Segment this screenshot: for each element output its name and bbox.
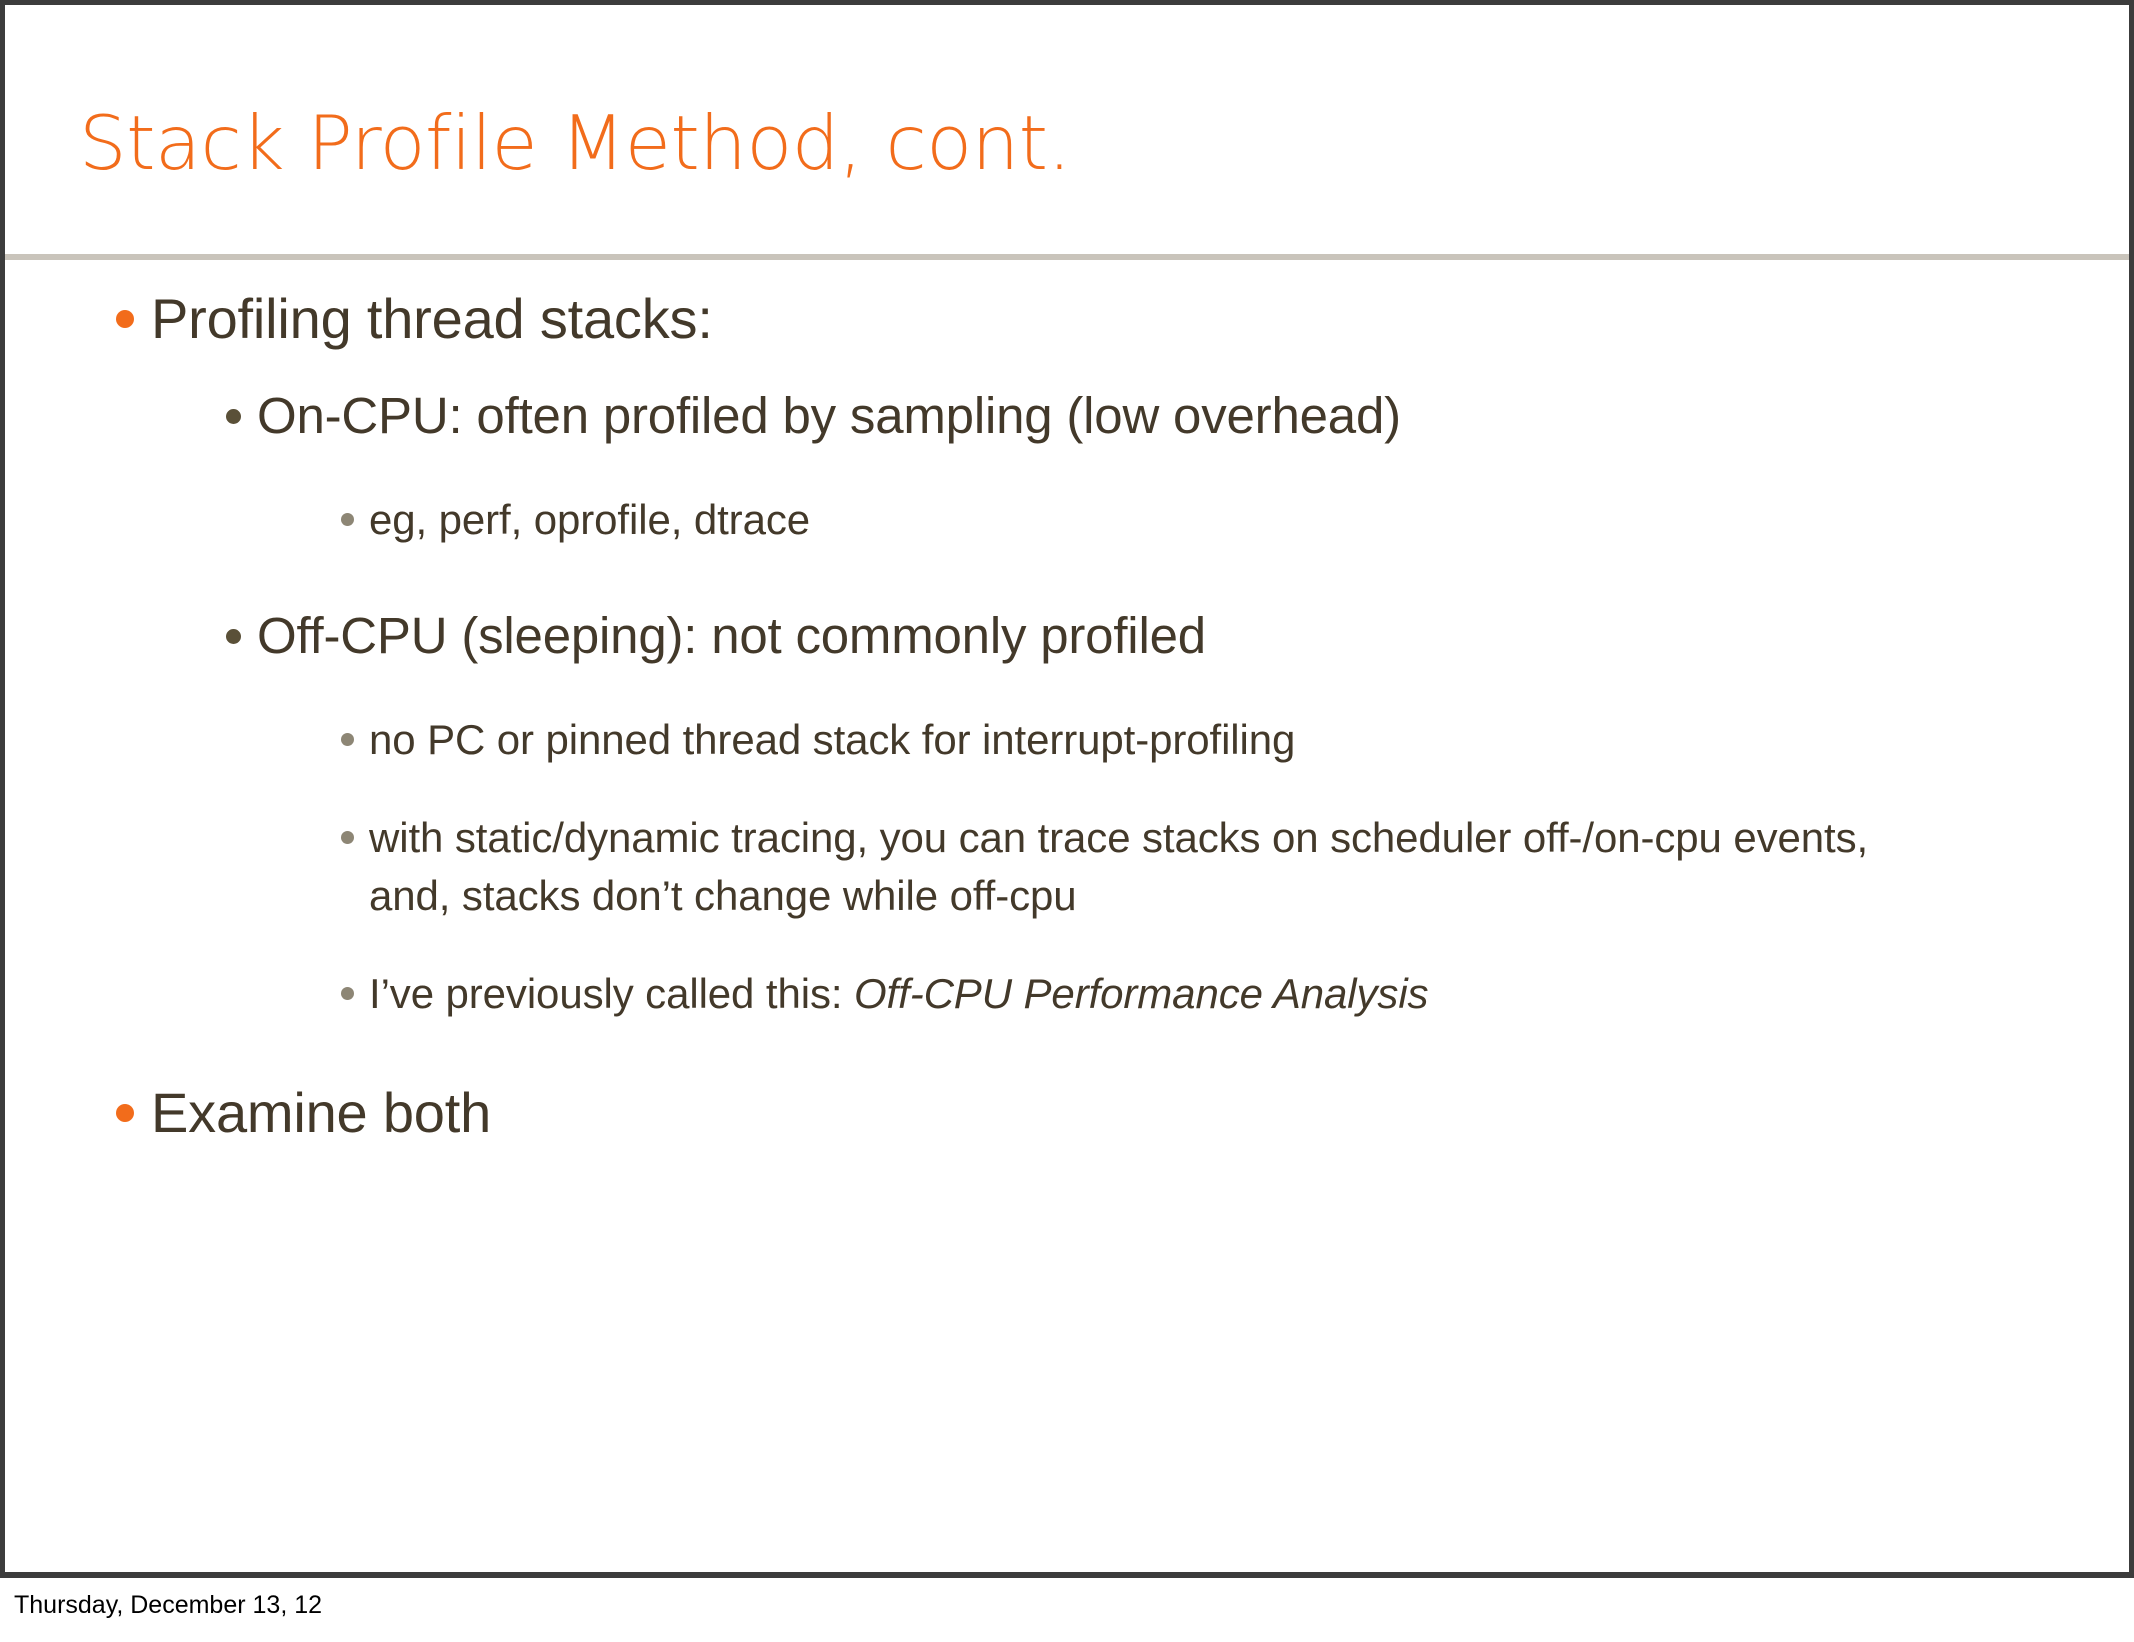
spacer — [5, 473, 2129, 491]
spacer — [5, 1045, 2129, 1075]
bullet-dot-icon — [325, 809, 369, 844]
bullet-level1-profiling-thread-stacks: Profiling thread stacks: — [5, 281, 2129, 357]
bullet-text: with static/dynamic tracing, you can tra… — [369, 809, 1929, 925]
bullet-level3-no-pc-pinned-thread-stack: no PC or pinned thread stack for interru… — [5, 711, 2129, 769]
bullet-text-emphasis: Off-CPU Performance Analysis — [854, 970, 1428, 1017]
bullet-text: no PC or pinned thread stack for interru… — [369, 711, 1929, 769]
bullet-level2-off-cpu-sleeping: Off-CPU (sleeping): not commonly profile… — [5, 601, 2129, 671]
bullet-level3-eg-perf-oprofile-dtrace: eg, perf, oprofile, dtrace — [5, 491, 2129, 549]
bullet-dot-icon — [99, 281, 151, 328]
bullet-level3-off-cpu-performance-analysis: I’ve previously called this: Off-CPU Per… — [5, 965, 2129, 1023]
footer-date: Thursday, December 13, 12 — [14, 1590, 322, 1620]
bullet-text: I’ve previously called this: Off-CPU Per… — [369, 965, 1929, 1023]
bullet-dot-icon — [210, 381, 257, 424]
spacer — [5, 571, 2129, 601]
spacer — [5, 791, 2129, 809]
page-title: Stack Profile Method, cont. — [79, 97, 2029, 189]
bullet-text: eg, perf, oprofile, dtrace — [369, 491, 1929, 549]
slide-frame: Stack Profile Method, cont. Profiling th… — [0, 0, 2134, 1578]
bullet-text: Off-CPU (sleeping): not commonly profile… — [257, 601, 2129, 671]
slide-body: Profiling thread stacks: On-CPU: often p… — [5, 281, 2129, 1175]
bullet-dot-icon — [99, 1075, 151, 1122]
bullet-text: On-CPU: often profiled by sampling (low … — [257, 381, 2129, 451]
bullet-text: Examine both — [151, 1075, 2129, 1151]
spacer — [5, 947, 2129, 965]
bullet-text: Profiling thread stacks: — [151, 281, 2129, 357]
bullet-text-prefix: I’ve previously called this: — [369, 970, 854, 1017]
bullet-dot-icon — [325, 711, 369, 746]
slide-title-block: Stack Profile Method, cont. — [79, 97, 2029, 207]
bullet-dot-icon — [325, 491, 369, 526]
slide-canvas: Stack Profile Method, cont. Profiling th… — [5, 5, 2129, 1572]
spacer — [5, 693, 2129, 711]
title-divider — [5, 254, 2129, 260]
bullet-level3-static-dynamic-tracing: with static/dynamic tracing, you can tra… — [5, 809, 2129, 925]
bullet-level2-on-cpu: On-CPU: often profiled by sampling (low … — [5, 381, 2129, 451]
bullet-dot-icon — [210, 601, 257, 644]
bullet-level1-examine-both: Examine both — [5, 1075, 2129, 1151]
bullet-dot-icon — [325, 965, 369, 1000]
